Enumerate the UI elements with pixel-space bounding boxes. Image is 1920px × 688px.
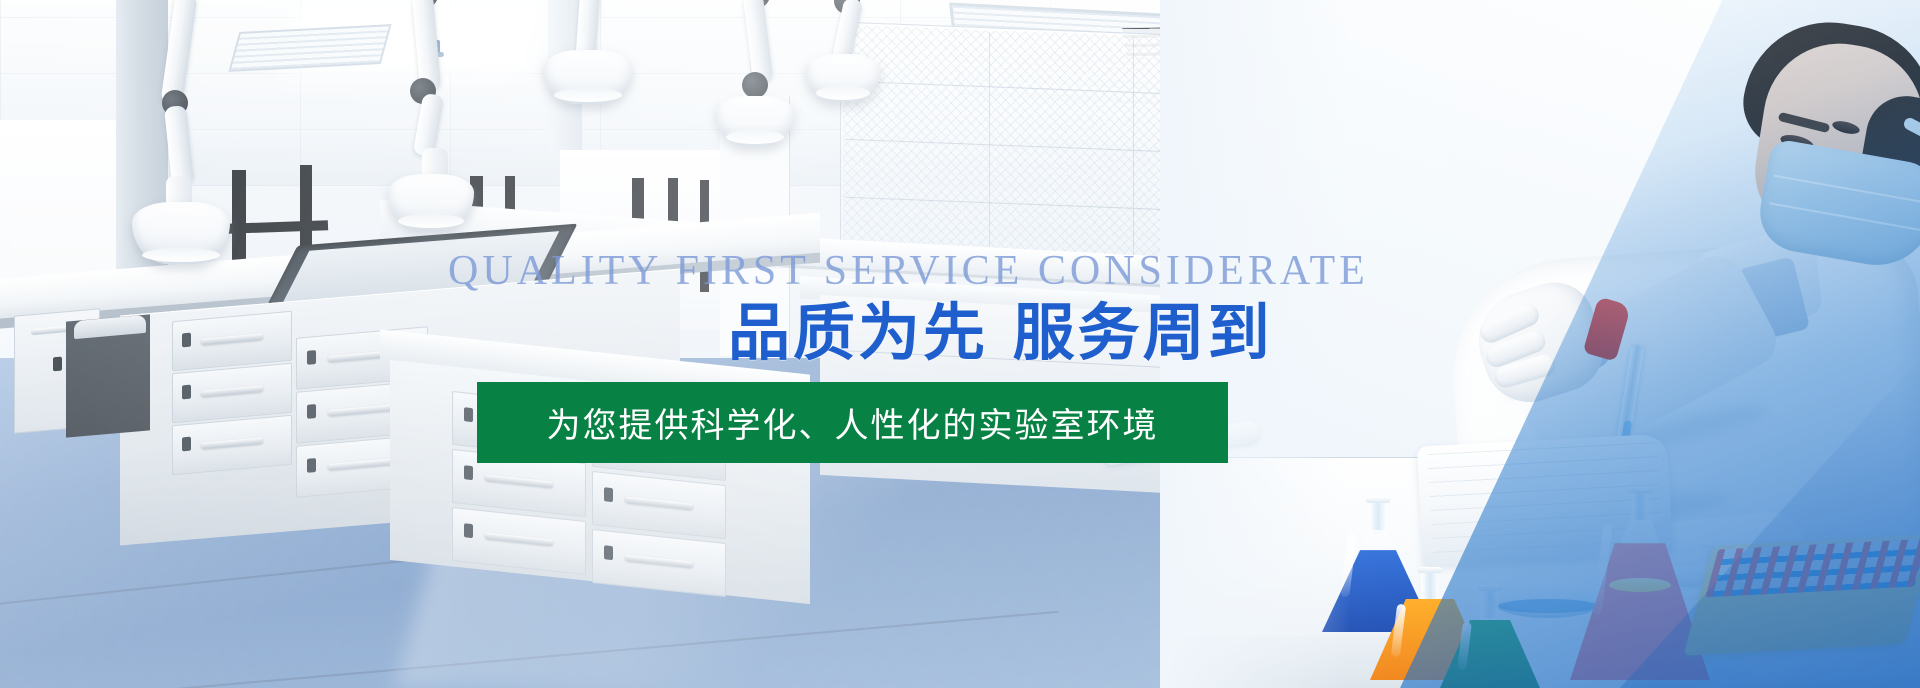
cabinet-lock-icon (53, 357, 62, 372)
shelf-divider (989, 32, 990, 262)
bench-drawer (172, 415, 292, 475)
bench-drawer (172, 311, 292, 371)
drawer-handle (328, 458, 396, 470)
extraction-hood (388, 174, 474, 230)
drawer-handle (201, 386, 262, 397)
ceiling-air-vent-icon (228, 24, 391, 72)
flask-liquid (1570, 543, 1710, 680)
drawer-lock-icon (464, 465, 473, 480)
shelf-divider (1133, 38, 1134, 268)
drawer-handle (485, 532, 554, 545)
tip-rack-grid (1705, 539, 1920, 598)
drawer-lock-icon (464, 523, 473, 538)
erlenmeyer-flask-green (1440, 588, 1540, 688)
drawer-handle (201, 334, 262, 345)
arm-joint (742, 72, 768, 98)
flask-neck (1482, 588, 1499, 622)
drawer-handle (485, 474, 554, 487)
drawer-handle (625, 554, 694, 567)
drawer-lock-icon (307, 350, 316, 365)
drawer-handle (328, 404, 396, 416)
drawer-lock-icon (604, 429, 613, 444)
lab-hero-banner: QUALITY FIRST SERVICE CONSIDERATE 品质为先 服… (0, 0, 1920, 688)
flask-liquid (1440, 620, 1540, 688)
cabinet-handle (31, 326, 71, 335)
drawer-handle (201, 438, 262, 449)
extraction-hood (544, 50, 632, 104)
extraction-hood (132, 202, 230, 264)
drawer-handle (625, 496, 694, 509)
bench-drawer (172, 363, 292, 423)
drawer-lock-icon (604, 487, 613, 502)
flask-neck (1632, 490, 1649, 524)
pipette-tip-rack (1683, 534, 1920, 655)
extraction-hood (806, 54, 880, 102)
drawer-lock-icon (307, 404, 316, 419)
flask-foam (1609, 578, 1671, 592)
drawer-lock-icon (182, 333, 191, 348)
drawer-handle (625, 438, 694, 451)
drawer-lock-icon (464, 407, 473, 422)
extraction-hood (716, 96, 794, 146)
drawer-handle (485, 416, 554, 429)
photo-edge-fade (1160, 0, 1350, 688)
drawer-lock-icon (182, 385, 191, 400)
drawer-lock-icon (307, 458, 316, 473)
drawer-lock-icon (604, 545, 613, 560)
flask-neck (1370, 500, 1387, 534)
drawer-lock-icon (182, 437, 191, 452)
